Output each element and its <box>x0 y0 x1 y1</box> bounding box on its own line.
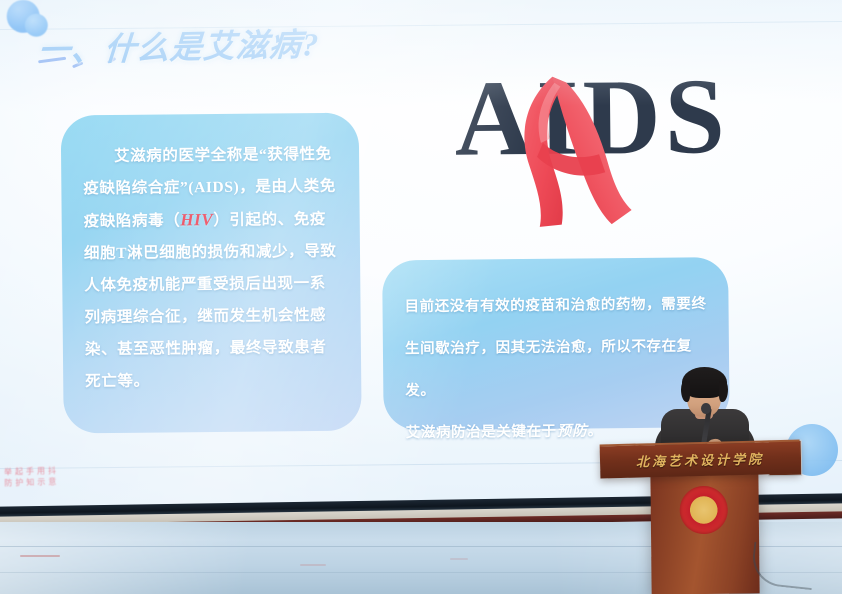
aids-logo: AIDS <box>426 53 758 216</box>
treatment-line3-prefix: 艾滋病防治是关键在于 <box>406 424 557 441</box>
treatment-line3-suffix: 。 <box>588 423 603 439</box>
presentation-photo: 一、什么是艾滋病? AIDS <box>0 0 842 594</box>
speaker-hair-left <box>681 381 690 402</box>
school-emblem-icon <box>680 486 729 535</box>
wall-banner-red-text: 举 起 手 用 抖 防 护 知 示 意 <box>4 465 67 489</box>
podium-nameplate-text: 北海艺术设计学院 <box>600 448 800 472</box>
speaker-hair-right <box>719 381 728 402</box>
definition-part2: ）引起的、免疫细胞T淋巴细胞的损伤和减少，导致人体免疫机能严重受损后出现一系列病… <box>84 211 337 390</box>
podium <box>650 469 759 594</box>
floor-mark <box>300 564 326 566</box>
screen-seam-top <box>0 21 842 30</box>
treatment-line-1: 目前还没有有效的疫苗和治愈的药物，需要终 <box>404 283 708 328</box>
prevention-emphasis: 预防 <box>557 423 588 439</box>
slide-title: 一、什么是艾滋病? <box>37 27 320 69</box>
floor-mark <box>450 558 468 560</box>
podium-nameplate: 北海艺术设计学院 <box>600 440 801 479</box>
slide-textbox-definition: 艾滋病的医学全称是“获得性免疫缺陷综合症”(AIDS)，是由人类免疫缺陷病毒（H… <box>61 113 362 434</box>
floor-mark <box>20 555 60 557</box>
hiv-emphasis: HIV <box>180 210 213 229</box>
microphone-head-icon <box>701 403 711 414</box>
aids-wordmark: AIDS <box>426 53 757 186</box>
